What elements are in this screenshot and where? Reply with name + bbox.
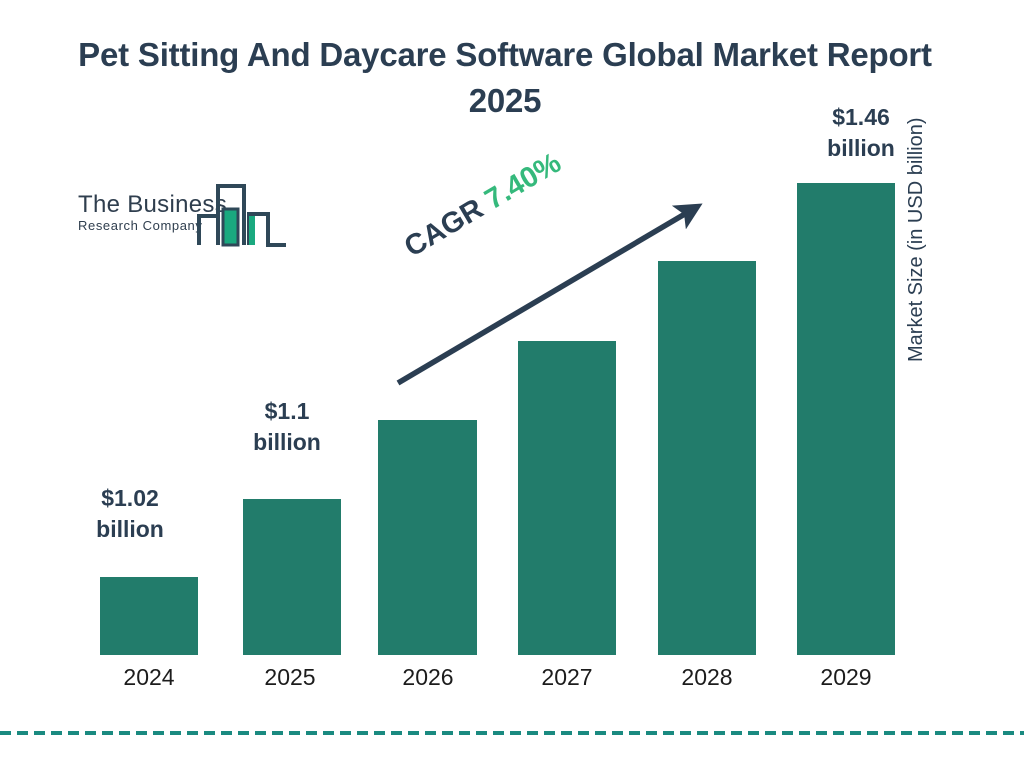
x-tick-label-2028: 2028	[657, 663, 757, 691]
bar-2027[interactable]	[518, 341, 616, 655]
bar-2024[interactable]	[100, 577, 198, 655]
y-axis-title: Market Size (in USD billion)	[905, 42, 927, 362]
bar-2026[interactable]	[378, 420, 477, 655]
x-tick-label-2024: 2024	[99, 663, 199, 691]
cagr-annotation: CAGR 7.40%	[399, 147, 567, 265]
bar-chart-plot: $1.02 billion $1.1 billion $1.46 billion…	[0, 0, 1024, 768]
cagr-rate-value: 7.40%	[480, 147, 567, 216]
cagr-label: CAGR	[399, 189, 496, 264]
bar-2028[interactable]	[658, 261, 756, 655]
x-tick-label-2025: 2025	[240, 663, 340, 691]
x-tick-label-2026: 2026	[378, 663, 478, 691]
bar-2025[interactable]	[243, 499, 341, 655]
x-tick-label-2027: 2027	[517, 663, 617, 691]
footer-divider	[0, 731, 1024, 735]
x-tick-label-2029: 2029	[796, 663, 896, 691]
bar-value-label-2025: $1.1 billion	[222, 396, 352, 458]
chart-page: Pet Sitting And Daycare Software Global …	[0, 0, 1024, 768]
bar-value-label-2024: $1.02 billion	[65, 483, 195, 545]
bar-2029[interactable]	[797, 183, 895, 655]
